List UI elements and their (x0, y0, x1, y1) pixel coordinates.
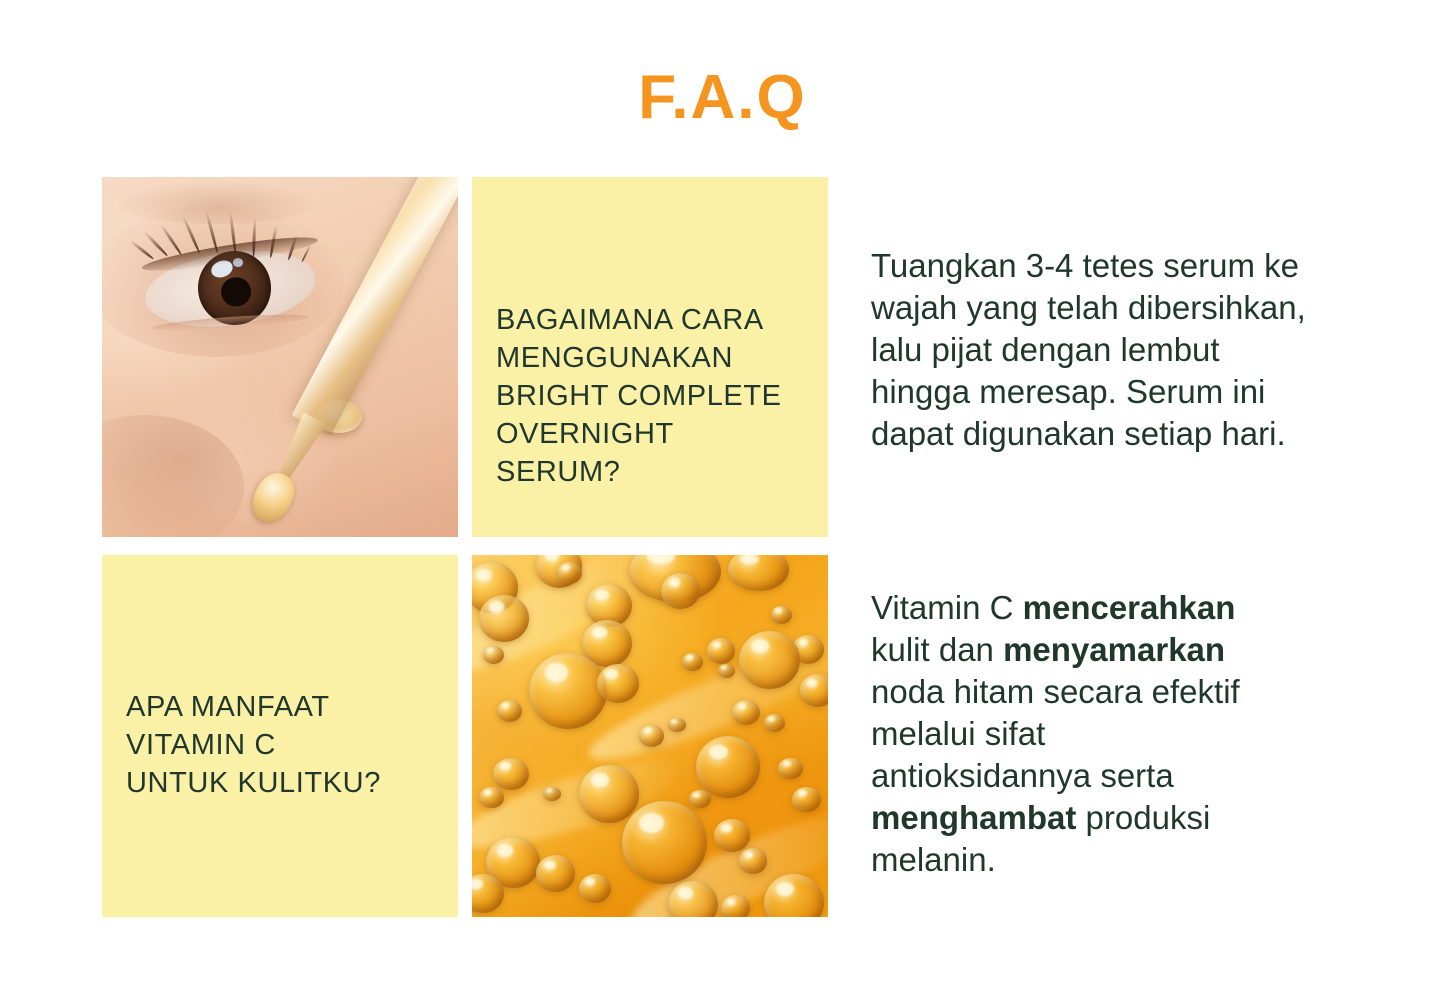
serum-droplet (245, 466, 302, 528)
serum-bubble (689, 790, 710, 808)
serum-bubble (728, 555, 789, 591)
serum-bubble (707, 638, 735, 663)
serum-bubble (739, 631, 800, 689)
serum-bubble (792, 787, 820, 812)
serum-bubble (483, 646, 504, 664)
serum-bubble (579, 765, 640, 823)
serum-bubble (668, 718, 686, 732)
serum-bubble (497, 700, 522, 722)
faq-image-eye-dropper (102, 177, 458, 537)
faq-question-panel-1: BAGAIMANA CARA MENGGUNAKAN BRIGHT COMPLE… (472, 177, 828, 537)
serum-bubble (622, 801, 707, 884)
serum-bubble (479, 595, 529, 642)
serum-bubble (529, 653, 607, 729)
serum-bubble (696, 736, 760, 798)
serum-bubble (597, 664, 640, 704)
page-title: F.A.Q (0, 62, 1445, 134)
serum-bubble (714, 819, 750, 852)
serum-bubble (661, 573, 700, 609)
serum-bubble (536, 855, 575, 891)
serum-bubble (739, 848, 767, 873)
serum-bubble (579, 874, 611, 903)
faq-question-1-text: BAGAIMANA CARA MENGGUNAKAN BRIGHT COMPLE… (472, 301, 828, 491)
serum-bubbles-photo (472, 555, 828, 917)
faq-question-2-text: APA MANFAAT VITAMIN C UNTUK KULITKU? (102, 688, 458, 802)
serum-bubble (732, 700, 760, 725)
serum-bubble (778, 758, 803, 780)
nose-shading (102, 415, 244, 537)
eye-pupil (221, 277, 250, 307)
serum-bubble (543, 787, 561, 801)
faq-answer-1-text: Tuangkan 3-4 tetes serum ke wajah yang t… (871, 245, 1371, 455)
serum-bubble (682, 653, 703, 671)
faq-question-panel-2: APA MANFAAT VITAMIN C UNTUK KULITKU? (102, 555, 458, 917)
serum-bubble (800, 674, 828, 707)
faq-image-serum-texture (472, 555, 828, 917)
faq-answer-2-text: Vitamin C mencerahkan kulit dan menyamar… (871, 587, 1371, 881)
serum-bubble (493, 758, 529, 791)
serum-bubble (771, 606, 792, 624)
eye-dropper-photo (102, 177, 458, 537)
serum-bubble (764, 714, 785, 732)
serum-bubble (721, 895, 749, 917)
serum-bubble (639, 725, 664, 747)
